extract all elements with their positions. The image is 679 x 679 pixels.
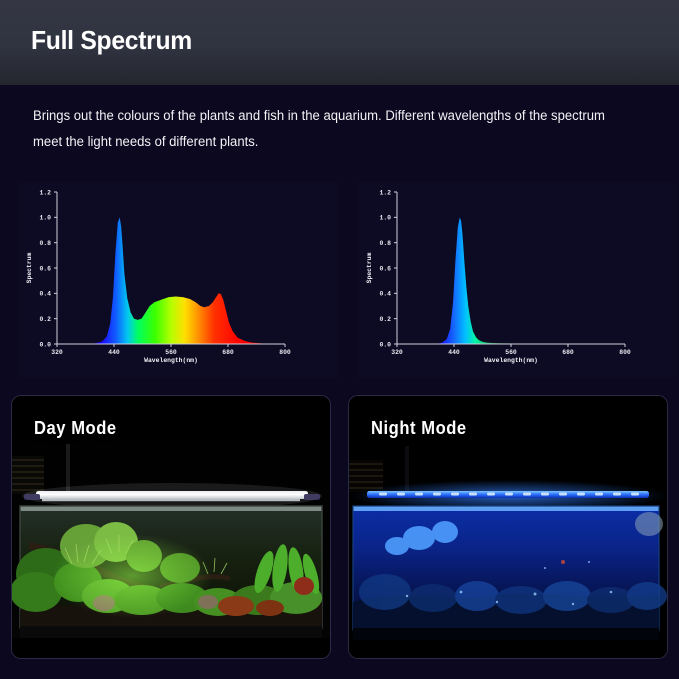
chart2-xtick-label: 800 bbox=[619, 349, 631, 356]
chart2-xtick-label: 320 bbox=[391, 349, 403, 356]
chart1-xtick-label: 320 bbox=[51, 349, 63, 356]
mode-panels: Day Mode bbox=[0, 396, 679, 662]
chart1-ytick-label: 0.8 bbox=[39, 240, 51, 247]
chart-night-spectrum: 0.00.20.40.60.81.01.2 320440560680800 Wa… bbox=[358, 182, 678, 378]
panel-night-mode[interactable]: Night Mode bbox=[349, 396, 667, 658]
chart-full-spectrum: 0.00.20.40.60.81.01.2 320440560680800 Wa… bbox=[18, 182, 338, 378]
chart2-ytick-label: 1.0 bbox=[379, 215, 391, 222]
chart2-ytick-label: 0.2 bbox=[379, 316, 391, 323]
chart2-ylabel: Spectrum bbox=[366, 252, 373, 283]
chart1-ytick-label: 0.0 bbox=[39, 341, 51, 348]
page-header: Full Spectrum bbox=[0, 0, 679, 85]
panel-label-night-mode: Night Mode bbox=[371, 418, 467, 439]
chart2-ytick-label: 0.8 bbox=[379, 240, 391, 247]
chart2-ytick-label: 0.4 bbox=[379, 291, 391, 298]
chart1-ytick-label: 0.2 bbox=[39, 316, 51, 323]
intro-paragraph: Brings out the colours of the plants and… bbox=[33, 103, 615, 155]
chart-full-spectrum-svg: 0.00.20.40.60.81.01.2 320440560680800 Wa… bbox=[18, 182, 338, 378]
panel-day-mode[interactable]: Day Mode bbox=[12, 396, 330, 658]
chart1-ytick-label: 1.2 bbox=[39, 189, 51, 196]
chart1-ylabel: Spectrum bbox=[26, 252, 33, 283]
chart2-ytick-label: 0.6 bbox=[379, 265, 391, 272]
panel-label-day-mode: Day Mode bbox=[34, 418, 117, 439]
chart1-xtick-label: 680 bbox=[222, 349, 234, 356]
spectrum-charts: 0.00.20.40.60.81.01.2 320440560680800 Wa… bbox=[0, 182, 679, 382]
chart1-xtick-label: 800 bbox=[279, 349, 291, 356]
chart2-xlabel: Wavelength(nm) bbox=[484, 357, 538, 364]
chart1-ytick-label: 1.0 bbox=[39, 215, 51, 222]
chart2-ytick-label: 0.0 bbox=[379, 341, 391, 348]
chart2-ytick-label: 1.2 bbox=[379, 189, 391, 196]
chart-night-spectrum-svg: 0.00.20.40.60.81.01.2 320440560680800 Wa… bbox=[358, 182, 678, 378]
chart1-xtick-label: 440 bbox=[108, 349, 120, 356]
page-title: Full Spectrum bbox=[31, 25, 192, 56]
chart1-ytick-label: 0.6 bbox=[39, 265, 51, 272]
chart1-xtick-label: 560 bbox=[165, 349, 177, 356]
chart2-xtick-label: 680 bbox=[562, 349, 574, 356]
chart1-ytick-label: 0.4 bbox=[39, 291, 51, 298]
chart2-xtick-label: 560 bbox=[505, 349, 517, 356]
chart2-xtick-label: 440 bbox=[448, 349, 460, 356]
chart1-xlabel: Wavelength(nm) bbox=[144, 357, 198, 364]
full-spectrum-page: Full Spectrum Brings out the colours of … bbox=[0, 0, 679, 679]
